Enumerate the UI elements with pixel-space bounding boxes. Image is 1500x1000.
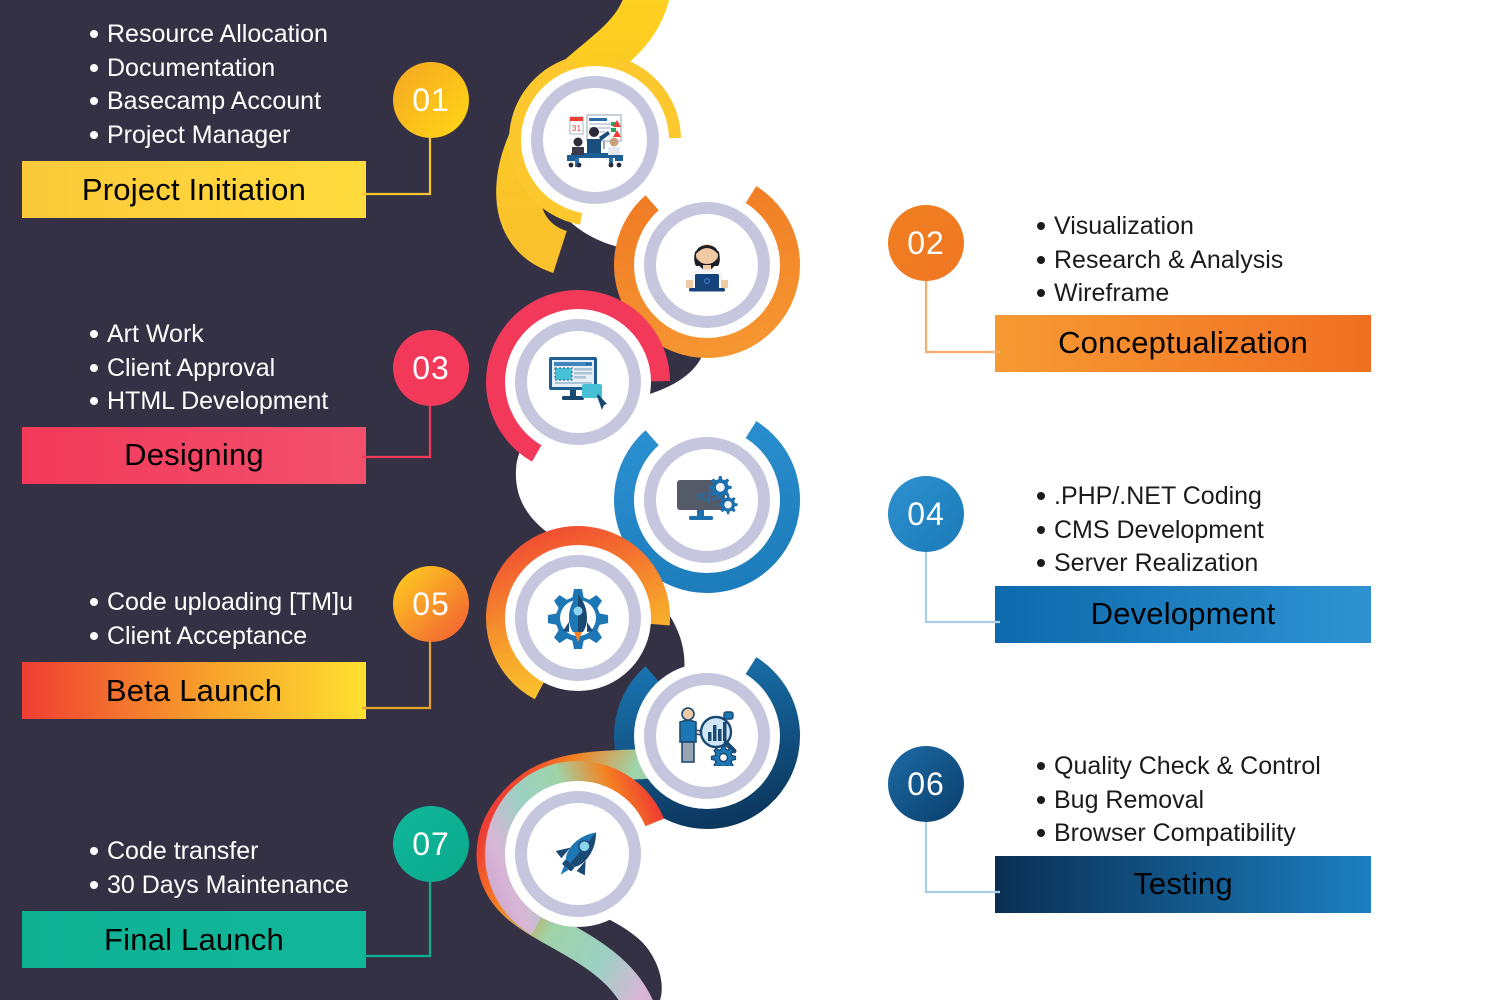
bullet-text: Code uploading [TM]u (107, 586, 353, 620)
bullet-text: .PHP/.NET Coding (1054, 480, 1262, 514)
step-title-bar-03[interactable]: Designing (22, 427, 366, 484)
list-item: Project Manager (90, 119, 290, 153)
rocket-gear-icon (546, 587, 610, 649)
quality-analysis-icon (674, 706, 740, 766)
step-title-bar-07[interactable]: Final Launch (22, 911, 366, 968)
list-item: Client Approval (90, 352, 275, 386)
list-item: 30 Days Maintenance (90, 869, 349, 903)
list-item: Code transfer (90, 835, 258, 869)
bullet-text: Client Approval (107, 352, 275, 386)
bullet-dot (90, 330, 98, 338)
node-icon-container-07 (527, 803, 629, 905)
bullet-dot (90, 598, 98, 606)
infographic-canvas: 31 (0, 0, 1500, 1000)
svg-text:31: 31 (572, 124, 581, 133)
bullet-dot (1037, 829, 1045, 837)
bullet-dot (90, 131, 98, 139)
step-badge-label: 04 (907, 496, 945, 533)
step-badge-label: 02 (907, 225, 945, 262)
bullet-dot (1037, 796, 1045, 804)
bullet-text: Client Acceptance (107, 620, 307, 654)
step-badge-06[interactable]: 06 (888, 746, 964, 822)
bullet-text: Bug Removal (1054, 784, 1204, 818)
bullet-text: Documentation (107, 52, 275, 86)
list-item: Visualization (1037, 210, 1371, 244)
bullet-dot (1037, 256, 1045, 264)
bullet-text: Basecamp Account (107, 85, 321, 119)
step-badge-label: 01 (412, 82, 450, 119)
step-badge-label: 03 (412, 350, 450, 387)
bullet-text: Wireframe (1054, 277, 1169, 311)
bullet-text: Browser Compatibility (1054, 817, 1296, 851)
step-badge-02[interactable]: 02 (888, 205, 964, 281)
list-item: Resource Allocation (90, 18, 328, 52)
step-badge-07[interactable]: 07 (393, 806, 469, 882)
list-item: Code uploading [TM]u (90, 586, 353, 620)
node-icon-container-02 (656, 214, 758, 316)
step-badge-04[interactable]: 04 (888, 476, 964, 552)
step-03-bullets: Art Work Client Approval HTML Developmen… (90, 318, 366, 419)
step-block-01: Resource Allocation Documentation Baseca… (22, 18, 366, 218)
node-circle-05[interactable] (505, 545, 651, 691)
list-item: Research & Analysis (1037, 244, 1371, 278)
bullet-text: CMS Development (1054, 514, 1264, 548)
bullet-dot (90, 97, 98, 105)
bullet-text: HTML Development (107, 385, 328, 419)
meeting-presentation-icon: 31 (561, 111, 629, 169)
bullet-text: Code transfer (107, 835, 258, 869)
step-title-bar-04[interactable]: Development (995, 586, 1371, 643)
step-title-bar-01[interactable]: Project Initiation (22, 161, 366, 218)
list-item: Wireframe (1037, 277, 1371, 311)
bullet-dot (90, 397, 98, 405)
step-02-bullets: Visualization Research & Analysis Wirefr… (1037, 210, 1371, 311)
step-04-bullets: .PHP/.NET Coding CMS Development Server … (1037, 480, 1371, 581)
bullet-dot (90, 881, 98, 889)
step-badge-01[interactable]: 01 (393, 62, 469, 138)
step-block-03: Art Work Client Approval HTML Developmen… (22, 318, 366, 484)
connector-line-04 (912, 540, 1002, 640)
bullet-dot (90, 30, 98, 38)
node-icon-container-06 (656, 685, 758, 787)
step-badge-label: 05 (412, 586, 450, 623)
list-item: Documentation (90, 52, 275, 86)
step-title-bar-06[interactable]: Testing (995, 856, 1371, 913)
bullet-text: Art Work (107, 318, 204, 352)
step-badge-label: 07 (412, 826, 450, 863)
bullet-dot (1037, 492, 1045, 500)
list-item: Browser Compatibility (1037, 817, 1371, 851)
step-badge-03[interactable]: 03 (393, 330, 469, 406)
bullet-dot (90, 64, 98, 72)
bullet-dot (1037, 526, 1045, 534)
bullet-dot (90, 632, 98, 640)
bullet-text: Project Manager (107, 119, 290, 153)
rocket-launch-icon (547, 824, 609, 884)
bullet-text: Quality Check & Control (1054, 750, 1321, 784)
bullet-dot (90, 364, 98, 372)
step-05-bullets: Code uploading [TM]u Client Acceptance (90, 586, 366, 653)
list-item: HTML Development (90, 385, 328, 419)
node-circle-07[interactable] (505, 781, 651, 927)
list-item: Quality Check & Control (1037, 750, 1371, 784)
step-07-bullets: Code transfer 30 Days Maintenance (90, 835, 366, 902)
node-circle-03[interactable] (505, 309, 651, 455)
step-block-07: Code transfer 30 Days Maintenance Final … (22, 835, 366, 968)
code-gears-icon: </> (674, 472, 740, 528)
bullet-dot (1037, 762, 1045, 770)
step-block-05: Code uploading [TM]u Client Acceptance B… (22, 586, 366, 719)
step-block-04: .PHP/.NET Coding CMS Development Server … (995, 480, 1371, 643)
node-icon-container-05 (527, 567, 629, 669)
node-circle-02[interactable] (634, 192, 780, 338)
step-01-bullets: Resource Allocation Documentation Baseca… (90, 18, 366, 152)
step-badge-05[interactable]: 05 (393, 566, 469, 642)
node-circle-04[interactable]: </> (634, 427, 780, 573)
node-circle-01[interactable]: 31 (521, 66, 669, 214)
list-item: Bug Removal (1037, 784, 1371, 818)
list-item: Server Realization (1037, 547, 1371, 581)
bullet-dot (90, 847, 98, 855)
connector-line-06 (912, 810, 1002, 910)
design-monitor-icon (546, 354, 610, 410)
list-item: Basecamp Account (90, 85, 321, 119)
list-item: Client Acceptance (90, 620, 307, 654)
node-icon-container-03 (527, 331, 629, 433)
node-icon-container-01: 31 (543, 88, 647, 192)
bullet-text: Visualization (1054, 210, 1194, 244)
step-badge-label: 06 (907, 766, 945, 803)
bullet-dot (1037, 289, 1045, 297)
node-icon-container-04: </> (656, 449, 758, 551)
bullet-dot (1037, 559, 1045, 567)
bullet-text: 30 Days Maintenance (107, 869, 349, 903)
list-item: .PHP/.NET Coding (1037, 480, 1371, 514)
developer-laptop-icon (676, 236, 738, 294)
step-title-bar-02[interactable]: Conceptualization (995, 315, 1371, 372)
bullet-text: Research & Analysis (1054, 244, 1283, 278)
step-block-06: Quality Check & Control Bug Removal Brow… (995, 750, 1371, 913)
node-circle-06[interactable] (634, 663, 780, 809)
bullet-text: Server Realization (1054, 547, 1258, 581)
step-block-02: Visualization Research & Analysis Wirefr… (995, 210, 1371, 372)
bullet-text: Resource Allocation (107, 18, 328, 52)
list-item: Art Work (90, 318, 204, 352)
step-title-bar-05[interactable]: Beta Launch (22, 662, 366, 719)
bullet-dot (1037, 222, 1045, 230)
connector-line-02 (912, 270, 1002, 370)
list-item: CMS Development (1037, 514, 1371, 548)
step-06-bullets: Quality Check & Control Bug Removal Brow… (1037, 750, 1371, 851)
